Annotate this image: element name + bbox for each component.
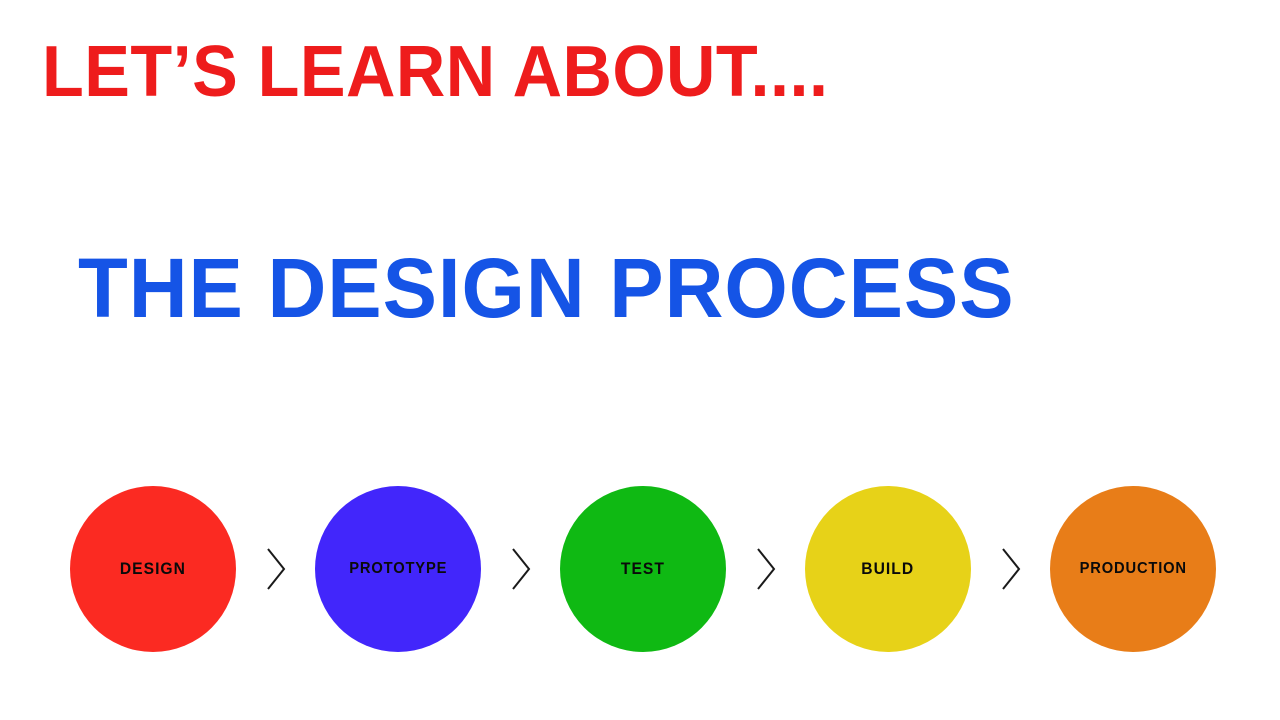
process-step-production[interactable]: PRODUCTION <box>1050 486 1216 652</box>
process-step-label: PROTOTYPE <box>349 560 447 578</box>
slide-canvas: LET’S LEARN ABOUT.... THE DESIGN PROCESS… <box>0 0 1280 720</box>
page-title-primary: LET’S LEARN ABOUT.... <box>42 36 828 108</box>
design-process-flow: DESIGN PROTOTYPE TEST BUILD <box>70 483 1216 655</box>
page-title-secondary: THE DESIGN PROCESS <box>78 246 1015 330</box>
chevron-right-icon <box>263 543 289 595</box>
process-step-label: BUILD <box>862 559 915 579</box>
process-step-prototype[interactable]: PROTOTYPE <box>315 486 481 652</box>
process-step-design[interactable]: DESIGN <box>70 486 236 652</box>
chevron-right-icon <box>753 543 779 595</box>
process-step-label: DESIGN <box>120 559 186 579</box>
process-step-label: PRODUCTION <box>1079 560 1186 578</box>
process-step-build[interactable]: BUILD <box>805 486 971 652</box>
process-step-test[interactable]: TEST <box>560 486 726 652</box>
process-step-label: TEST <box>621 559 665 579</box>
chevron-right-icon <box>998 543 1024 595</box>
chevron-right-icon <box>508 543 534 595</box>
